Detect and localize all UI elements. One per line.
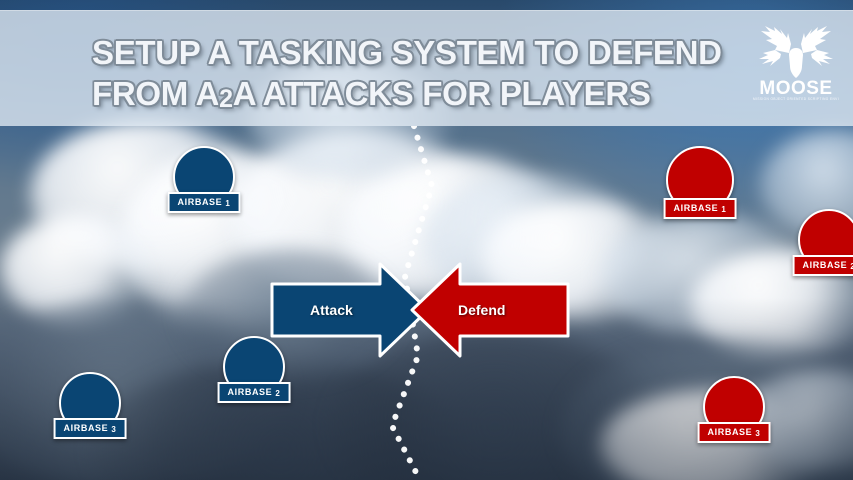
airbase-number: 2 bbox=[275, 389, 280, 398]
airbase-number: 3 bbox=[111, 425, 116, 434]
airbase-label: AIRBASE 3 bbox=[54, 418, 127, 439]
airbase-label-text: AIRBASE bbox=[803, 260, 848, 270]
airbase-number: 1 bbox=[225, 199, 230, 208]
airbase-marker[interactable]: AIRBASE 3 bbox=[61, 372, 119, 456]
title-band: SETUP A TASKING SYSTEM TO DEFENDFROM A2A… bbox=[0, 10, 853, 126]
attack-arrow[interactable] bbox=[272, 264, 428, 356]
airbase-number: 3 bbox=[755, 429, 760, 438]
airbase-label: AIRBASE 2 bbox=[218, 382, 291, 403]
moose-tagline: MISSION OBJECT ORIENTED SCRIPTING ENVIRO… bbox=[753, 97, 839, 101]
airbase-label: AIRBASE 1 bbox=[664, 198, 737, 219]
attack-defend-arrows: Attack Defend bbox=[270, 262, 570, 358]
airbase-marker[interactable]: AIRBASE 1 bbox=[175, 146, 233, 230]
title-line-2-sub: 2 bbox=[219, 85, 233, 113]
defend-arrow[interactable] bbox=[412, 264, 568, 356]
airbase-label: AIRBASE 1 bbox=[168, 192, 241, 213]
airbase-marker[interactable]: AIRBASE 2 bbox=[800, 209, 853, 293]
airbase-label-text: AIRBASE bbox=[178, 197, 223, 207]
airbase-label-text: AIRBASE bbox=[674, 203, 719, 213]
airbase-label: AIRBASE 3 bbox=[698, 422, 771, 443]
airbase-marker[interactable]: AIRBASE 1 bbox=[668, 146, 732, 236]
title-line-2-post: A ATTACKS FOR PLAYERS bbox=[233, 75, 651, 112]
moose-antlers-icon bbox=[753, 26, 839, 86]
airbase-label-text: AIRBASE bbox=[708, 427, 753, 437]
title-line-1: SETUP A TASKING SYSTEM TO DEFEND bbox=[92, 34, 722, 71]
airbase-label-text: AIRBASE bbox=[64, 423, 109, 433]
title-line-2-pre: FROM A bbox=[92, 75, 219, 112]
airbase-marker[interactable]: AIRBASE 2 bbox=[225, 336, 283, 420]
airbase-number: 1 bbox=[721, 205, 726, 214]
moose-logo[interactable]: MOOSE MISSION OBJECT ORIENTED SCRIPTING … bbox=[753, 26, 839, 118]
airbase-marker[interactable]: AIRBASE 3 bbox=[705, 376, 763, 460]
airbase-label-text: AIRBASE bbox=[228, 387, 273, 397]
airbase-label: AIRBASE 2 bbox=[793, 255, 853, 276]
slide-canvas: Attack Defend AIRBASE 1AIRBASE 2AIRBASE … bbox=[0, 0, 853, 480]
page-title: SETUP A TASKING SYSTEM TO DEFENDFROM A2A… bbox=[92, 32, 742, 120]
